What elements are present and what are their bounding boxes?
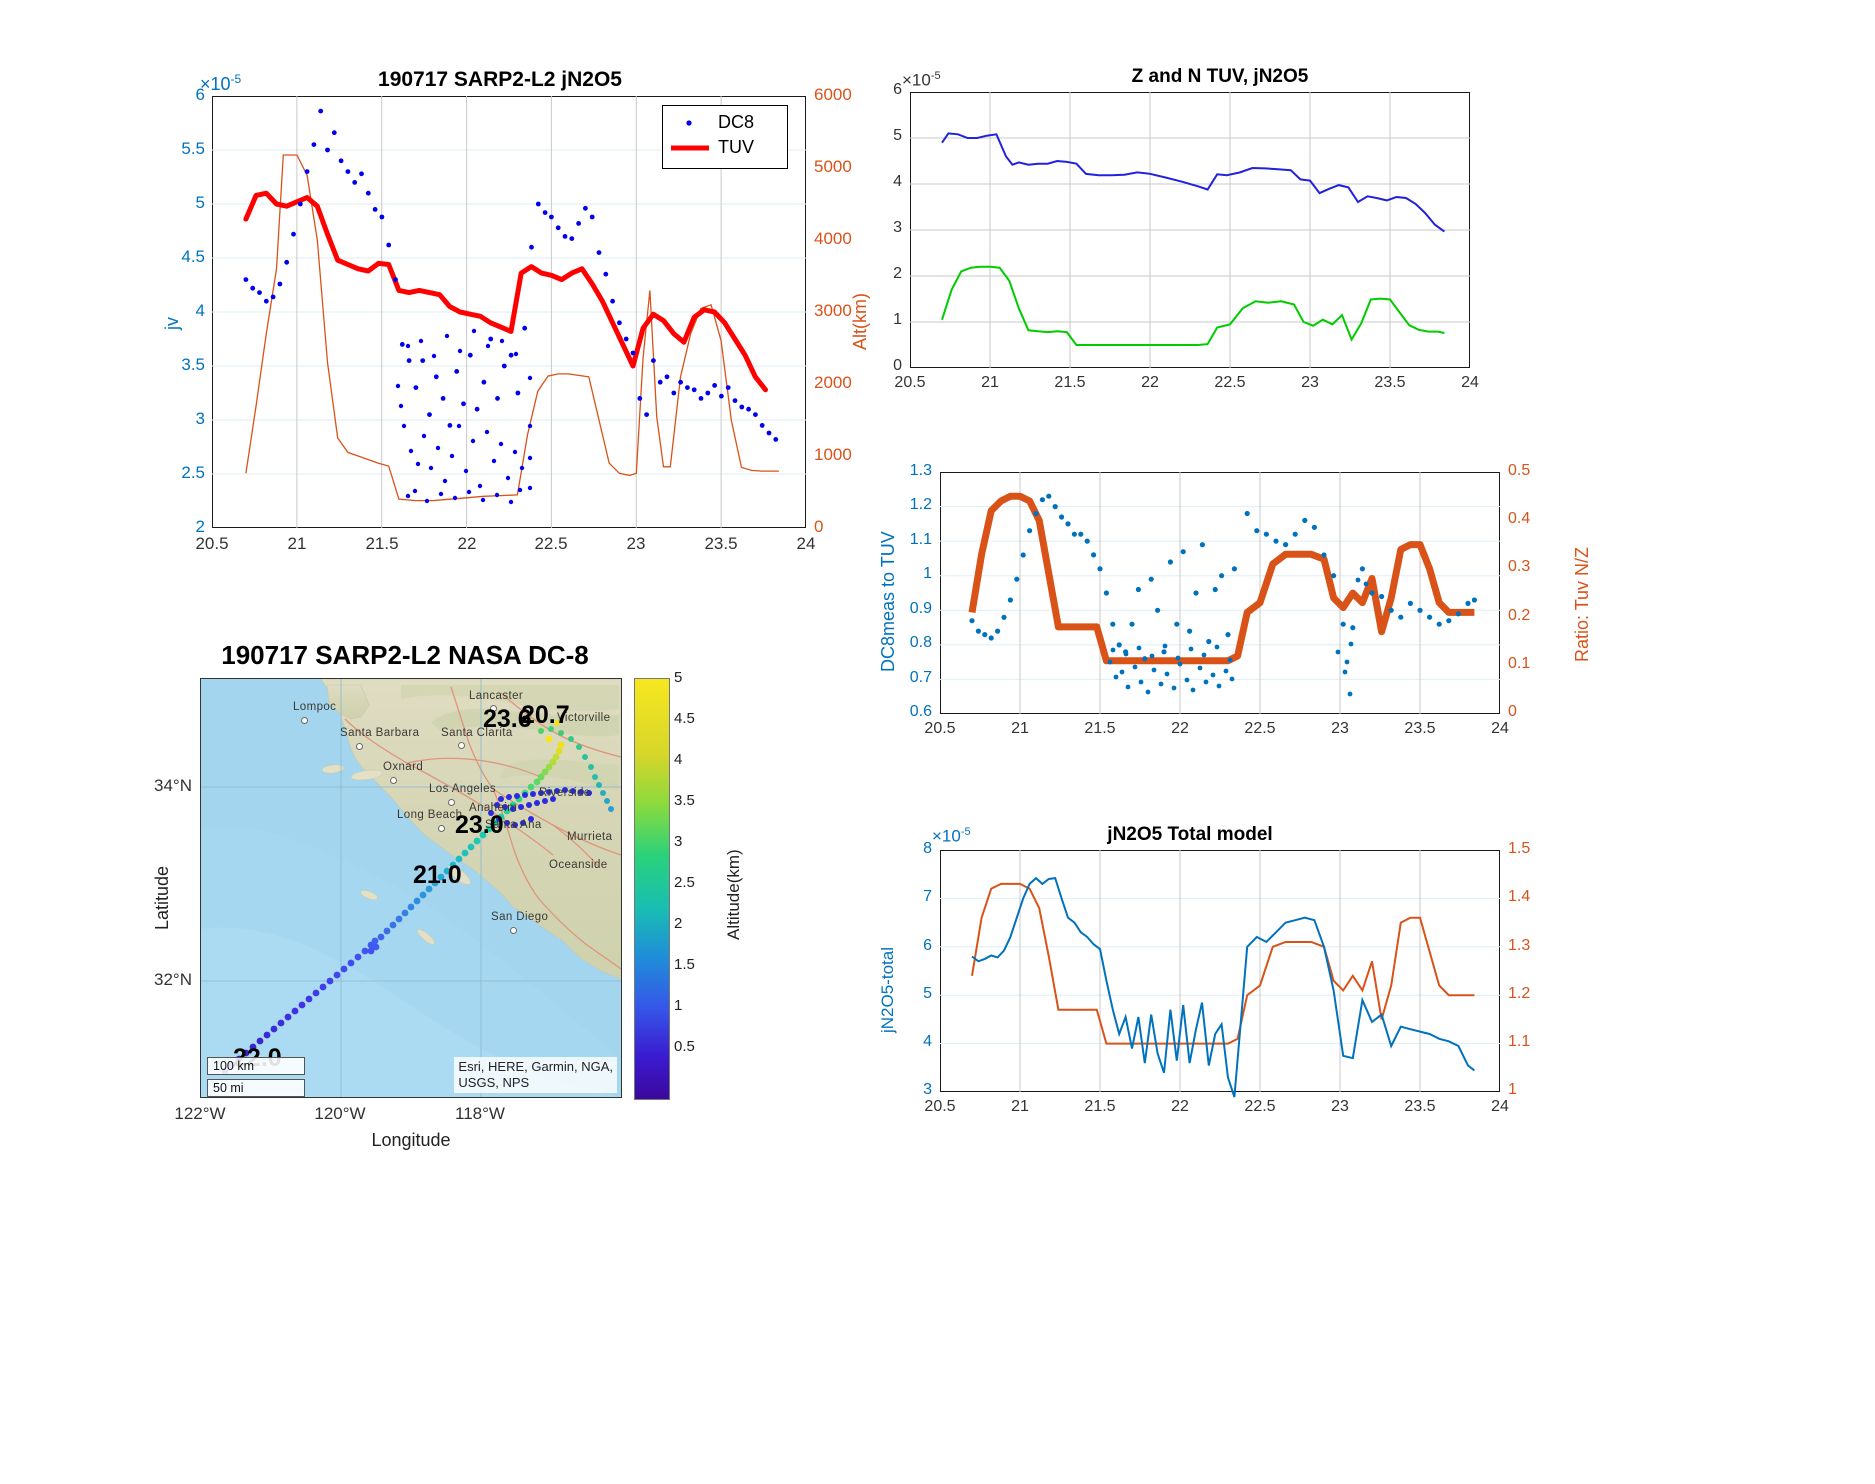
panel-zn-ytick-0: 6 <box>860 81 902 99</box>
panel-zn-exponent: ×10-5 <box>902 70 941 91</box>
panel-ratio-ytick-right-0: 0.5 <box>1508 462 1530 480</box>
panel-total-right-line <box>972 884 1474 1044</box>
panel-ratio-right-line <box>972 496 1474 661</box>
map-ytick-0: 34°N <box>130 776 192 796</box>
panel-jv-ytick-right-3: 3000 <box>814 301 852 321</box>
panel-zn-ytick-2: 4 <box>860 173 902 191</box>
panel-total-ytick-right-3: 1.2 <box>1508 985 1530 1003</box>
panel-jv-ytick-right-1: 5000 <box>814 157 852 177</box>
city-dot-oxnard <box>390 777 397 784</box>
panel-total-ytick-left-4: 4 <box>884 1033 932 1051</box>
panel-jv-xtick-7: 24 <box>766 534 846 554</box>
panel-jv-ytick-left-0: 6 <box>150 85 205 105</box>
panel-jv-ytick-left-2: 5 <box>150 193 205 213</box>
panel-jv-ytick-left-3: 4.5 <box>150 247 205 267</box>
panel-total-plot <box>940 850 1500 1092</box>
panel-jv-legend[interactable]: DC8 TUV <box>662 105 788 169</box>
city-label-los-angeles: Los Angeles <box>429 783 496 795</box>
panel-zn-xtick-1: 21 <box>950 374 1030 392</box>
panel-ratio-ytick-right-3: 0.2 <box>1508 607 1530 625</box>
panel-ratio-ytick-right-2: 0.3 <box>1508 558 1530 576</box>
panel-total-axes <box>940 850 1500 1092</box>
panel-ratio-axes <box>940 472 1500 714</box>
panel-total-xtick-4: 22.5 <box>1220 1098 1300 1116</box>
panel-zn-ytick-6: 0 <box>860 357 902 375</box>
panel-ratio-ytick-right-5: 0 <box>1508 703 1517 721</box>
panel-jv-xtick-2: 21.5 <box>342 534 422 554</box>
panel-jv-xtick-0: 20.5 <box>172 534 252 554</box>
panel-jv-ytick-left-7: 2.5 <box>150 463 205 483</box>
panel-zn-ytick-4: 2 <box>860 265 902 283</box>
map-xtick-2: 118°W <box>440 1104 520 1124</box>
map-attribution: Esri, HERE, Garmin, NGA, USGS, NPS <box>454 1057 617 1094</box>
panel-ratio-ytick-right-1: 0.4 <box>1508 510 1530 528</box>
panel-jv-ytick-right-5: 1000 <box>814 445 852 465</box>
panel-ratio-xtick-6: 23.5 <box>1380 720 1460 738</box>
map-cbar-tick-9: 0.5 <box>674 1038 695 1055</box>
panel-ratio-xtick-7: 24 <box>1460 720 1540 738</box>
panel-total-title: jN2O5 Total model <box>880 824 1500 846</box>
panel-zn-xtick-7: 24 <box>1430 374 1510 392</box>
panel-jv-exponent: ×10-5 <box>200 72 241 95</box>
panel-total-xtick-2: 21.5 <box>1060 1098 1140 1116</box>
panel-ratio-xtick-3: 22 <box>1140 720 1220 738</box>
panel-jv-xtick-5: 23 <box>596 534 676 554</box>
city-dot-long-beach <box>438 825 445 832</box>
panel-ratio-gridlines <box>940 507 1500 680</box>
legend-dc8-marker <box>686 120 691 125</box>
map-cbar-tick-8: 1 <box>674 997 682 1014</box>
panel-zn-ytick-1: 5 <box>860 127 902 145</box>
panel-total-xtick-6: 23.5 <box>1380 1098 1460 1116</box>
panel-zn-title: Z and N TUV, jN2O5 <box>860 66 1580 88</box>
panel-jv-ytick-right-4: 2000 <box>814 373 852 393</box>
panel-zn-xtick-3: 22 <box>1110 374 1190 392</box>
panel-ratio-xtick-2: 21.5 <box>1060 720 1140 738</box>
panel-map: 190717 SARP2-L2 NASA DC-8 <box>130 630 810 1160</box>
panel-ratio-plot <box>940 472 1500 714</box>
panel-total-xtick-0: 20.5 <box>900 1098 980 1116</box>
panel-ratio-vgridlines <box>1020 472 1420 714</box>
panel-ratio-xtick-1: 21 <box>980 720 1060 738</box>
panel-zn-ytick-3: 3 <box>860 219 902 237</box>
panel-total-ytick-right-5: 1 <box>1508 1081 1517 1099</box>
panel-total-ytick-right-4: 1.1 <box>1508 1033 1530 1051</box>
panel-jv: 190717 SARP2-L2 jN2O5 ×10-5 <box>150 60 850 560</box>
track-annotation-21-0: 21.0 <box>413 861 462 890</box>
panel-jv-title: 190717 SARP2-L2 jN2O5 <box>150 68 850 92</box>
city-dot-los-angeles <box>448 799 455 806</box>
panel-ratio-xtick-5: 23 <box>1300 720 1380 738</box>
panel-jv-ytick-right-2: 4000 <box>814 229 852 249</box>
city-label-riverside: Riverside <box>539 787 591 799</box>
city-label-santa-barbara: Santa Barbara <box>340 727 419 739</box>
map-cbar-tick-1: 4.5 <box>674 710 695 727</box>
panel-ratio-ytick-right-4: 0.1 <box>1508 655 1530 673</box>
scalebar-km: 100 km <box>207 1057 305 1075</box>
panel-jv-ylabel-left: jv <box>162 317 183 330</box>
map-cbar-tick-7: 1.5 <box>674 956 695 973</box>
track-annotation-20-7: 20.7 <box>521 701 570 730</box>
panel-zn-xtick-5: 23 <box>1270 374 1350 392</box>
map-basemap <box>201 679 621 1097</box>
panel-zn-z-line <box>942 133 1444 231</box>
map-xlabel: Longitude <box>200 1130 622 1151</box>
panel-jv-xtick-6: 23.5 <box>681 534 761 554</box>
map-colorbar-label: Altitude(km) <box>724 849 744 940</box>
panel-ratio-ylabel-left: DC8meas to TUV <box>878 531 899 672</box>
panel-ratio-dc8-points <box>969 494 1477 697</box>
city-dot-santa-barbara <box>356 743 363 750</box>
panel-total-ytick-right-2: 1.3 <box>1508 937 1530 955</box>
panel-total-xtick-3: 22 <box>1140 1098 1220 1116</box>
map-cbar-tick-2: 4 <box>674 751 682 768</box>
panel-jv-ytick-right-0: 6000 <box>814 85 852 105</box>
panel-total-ytick-right-0: 1.5 <box>1508 840 1530 858</box>
panel-jv-xtick-4: 22.5 <box>511 534 591 554</box>
city-label-lancaster: Lancaster <box>469 690 523 702</box>
city-label-oceanside: Oceanside <box>549 859 608 871</box>
city-label-long-beach: Long Beach <box>397 809 462 821</box>
panel-zn-ytick-5: 1 <box>860 311 902 329</box>
panel-zn-plot <box>910 92 1470 368</box>
panel-total-ytick-right-1: 1.4 <box>1508 888 1530 906</box>
legend-dc8-label: DC8 <box>718 112 754 133</box>
panel-ratio-ytick-left-7: 0.6 <box>884 703 932 721</box>
panel-zn-axes <box>910 92 1470 368</box>
map-cbar-tick-4: 3 <box>674 833 682 850</box>
city-dot-santa-clarita <box>458 742 465 749</box>
city-label-lompoc: Lompoc <box>293 701 336 713</box>
map-cbar-tick-6: 2 <box>674 915 682 932</box>
panel-ratio-ytick-left-0: 1.3 <box>884 462 932 480</box>
map-xtick-0: 122°W <box>160 1104 240 1124</box>
map-ytick-1: 32°N <box>130 970 192 990</box>
map-colorbar <box>634 678 670 1100</box>
panel-total-gridlines <box>940 898 1500 1043</box>
panel-ratio-ylabel-right: Ratio: Tuv N/Z <box>1572 547 1593 662</box>
panel-ratio-ytick-left-1: 1.2 <box>884 496 932 514</box>
panel-jv-tuv-line <box>246 193 766 390</box>
panel-ratio-xtick-4: 22.5 <box>1220 720 1300 738</box>
map-ylabel: Latitude <box>152 866 173 930</box>
panel-zn-n-line <box>942 267 1444 345</box>
city-label-oxnard: Oxnard <box>383 761 423 773</box>
panel-zn-gridlines <box>910 92 1470 368</box>
panel-zn-xtick-4: 22.5 <box>1190 374 1270 392</box>
map-cbar-tick-0: 5 <box>674 669 682 686</box>
track-annotation-23-0: 23.0 <box>455 811 504 840</box>
map-cbar-tick-3: 3.5 <box>674 792 695 809</box>
panel-ratio-xtick-0: 20.5 <box>900 720 980 738</box>
panel-jv-ytick-left-1: 5.5 <box>150 139 205 159</box>
panel-map-title: 190717 SARP2-L2 NASA DC-8 <box>160 640 650 671</box>
panel-zn-xtick-0: 20.5 <box>870 374 950 392</box>
panel-jv-xtick-1: 21 <box>257 534 337 554</box>
city-dot-lompoc <box>301 717 308 724</box>
city-dot-san-diego <box>510 927 517 934</box>
panel-total-xtick-5: 23 <box>1300 1098 1380 1116</box>
panel-zn-xtick-2: 21.5 <box>1030 374 1110 392</box>
map-cbar-tick-5: 2.5 <box>674 874 695 891</box>
panel-jv-ytick-left-6: 3 <box>150 409 205 429</box>
city-label-murrieta: Murrieta <box>567 831 612 843</box>
panel-total-exponent: ×10-5 <box>932 826 971 847</box>
city-label-san-diego: San Diego <box>491 911 548 923</box>
panel-jv-xtick-3: 22 <box>427 534 507 554</box>
panel-total-xtick-1: 21 <box>980 1098 1060 1116</box>
panel-jv-ytick-left-5: 3.5 <box>150 355 205 375</box>
scalebar-mi: 50 mi <box>207 1079 305 1097</box>
panel-total-vgridlines <box>1020 850 1420 1092</box>
panel-zn-xtick-6: 23.5 <box>1350 374 1430 392</box>
panel-total-ytick-left-5: 3 <box>884 1081 932 1099</box>
panel-ratio: 1.3 1.2 1.1 1 0.9 0.8 0.7 0.6 0.5 0.4 0.… <box>860 452 1600 762</box>
panel-total-ytick-left-1: 7 <box>884 888 932 906</box>
panel-total-ylabel-left: jN2O5-total <box>878 947 898 1033</box>
legend-tuv-label: TUV <box>718 137 754 158</box>
map-xtick-1: 120°W <box>300 1104 380 1124</box>
panel-zn: Z and N TUV, jN2O5 ×10-5 6 5 4 3 2 1 0 2… <box>860 58 1580 398</box>
panel-total-jn2o5-line <box>972 878 1474 1097</box>
panel-total-ytick-left-0: 8 <box>884 840 932 858</box>
panel-total: jN2O5 Total model ×10-5 8 7 6 5 4 3 1.5 … <box>860 818 1600 1128</box>
map-canvas[interactable]: Lompoc Santa Barbara Oxnard Lancaster Sa… <box>200 678 622 1098</box>
panel-total-xtick-7: 24 <box>1460 1098 1540 1116</box>
